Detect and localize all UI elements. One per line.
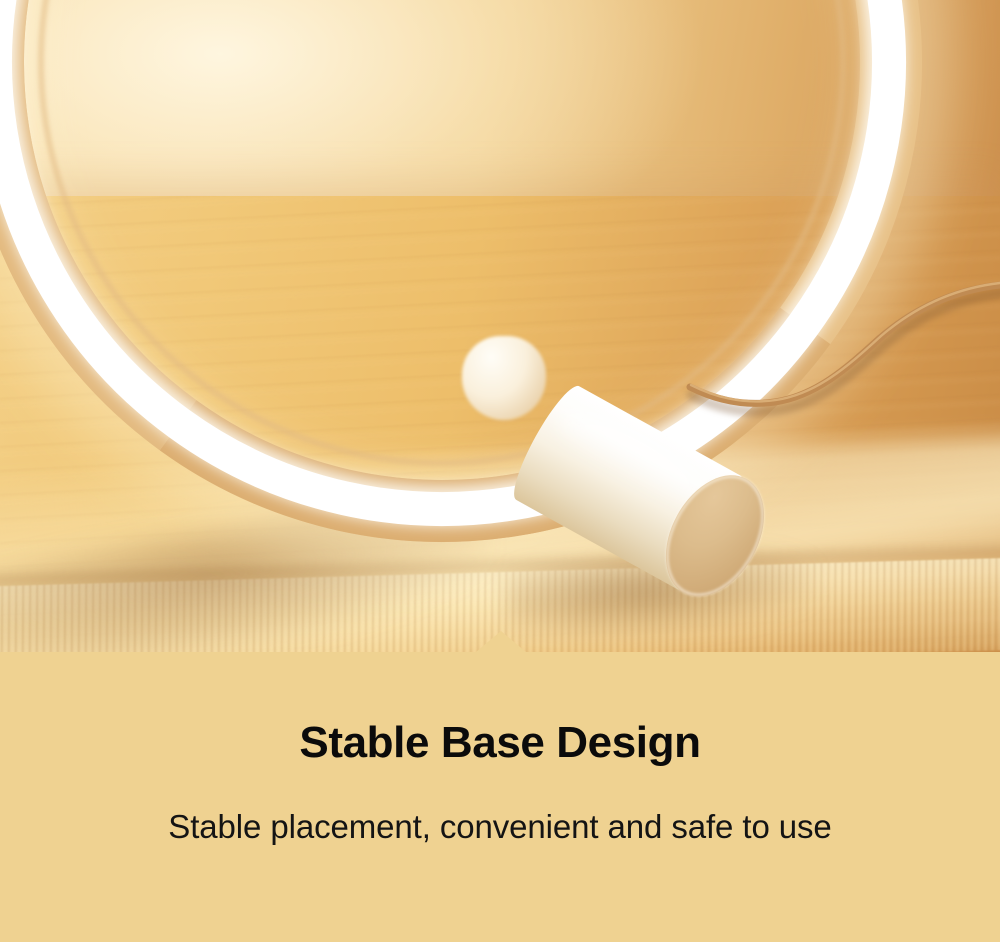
product-photo — [0, 0, 1000, 652]
caption-notch-triangle-icon — [476, 631, 526, 652]
caption-subtitle: Stable placement, convenient and safe to… — [0, 808, 1000, 846]
caption-band: Stable Base Design Stable placement, con… — [0, 652, 1000, 942]
caption-title: Stable Base Design — [0, 718, 1000, 768]
product-feature-banner: Stable Base Design Stable placement, con… — [0, 0, 1000, 942]
